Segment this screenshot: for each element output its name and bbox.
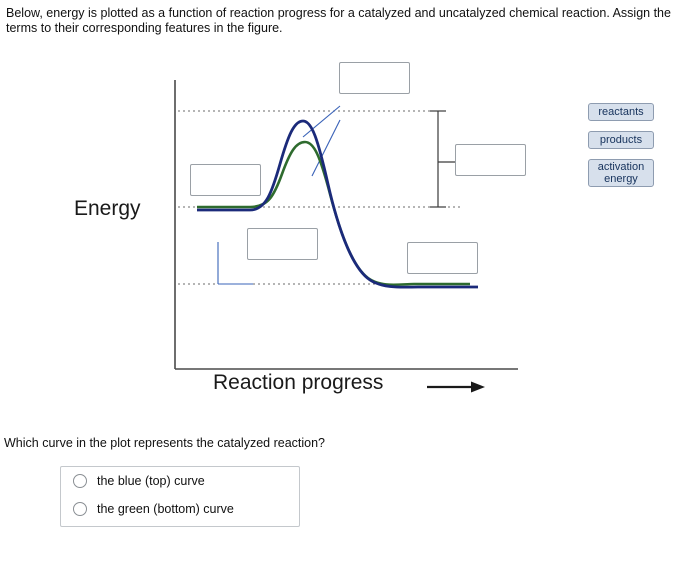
term-chip-products[interactable]: products xyxy=(588,131,654,149)
blank-products[interactable] xyxy=(407,242,478,274)
question-text: Which curve in the plot represents the c… xyxy=(4,436,325,450)
answer-options-panel: the blue (top) curve the green (bottom) … xyxy=(60,466,300,527)
option-blue-curve[interactable]: the blue (top) curve xyxy=(61,467,299,495)
blank-top[interactable] xyxy=(339,62,410,94)
term-chip-activation-energy[interactable]: activation energy xyxy=(588,159,654,187)
radio-icon[interactable] xyxy=(73,474,87,488)
option-label-green: the green (bottom) curve xyxy=(97,502,234,516)
term-chip-reactants[interactable]: reactants xyxy=(588,103,654,121)
option-label-blue: the blue (top) curve xyxy=(97,474,205,488)
blank-lower-left[interactable] xyxy=(247,228,318,260)
instruction-text: Below, energy is plotted as a function o… xyxy=(6,6,696,35)
energy-diagram xyxy=(0,44,700,414)
leader-line-b xyxy=(312,120,340,176)
right-arrow-icon xyxy=(427,380,485,394)
radio-icon[interactable] xyxy=(73,502,87,516)
blank-reactants[interactable] xyxy=(190,164,261,196)
blank-activation-energy[interactable] xyxy=(455,144,526,176)
energy-diagram-svg xyxy=(0,44,700,414)
x-axis-label: Reaction progress xyxy=(213,371,383,395)
y-axis-label: Energy xyxy=(74,197,141,221)
option-green-curve[interactable]: the green (bottom) curve xyxy=(61,495,299,523)
